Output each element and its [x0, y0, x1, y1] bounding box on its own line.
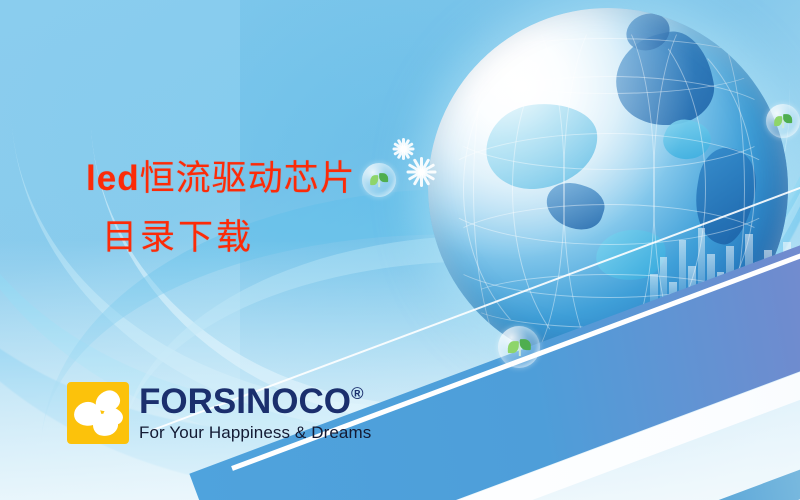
globe-graphic [428, 8, 788, 368]
pinwheel-flower-icon [67, 382, 129, 444]
globe-sphere [428, 8, 788, 368]
sprout-leaf-right [783, 115, 792, 124]
sprout-leaf-right [379, 174, 388, 183]
green-sprout-icon [507, 337, 531, 359]
headline-latin-text: led [86, 159, 140, 198]
registered-trademark-icon: ® [351, 385, 364, 402]
sprout-leaf-right [519, 339, 530, 350]
brand-word: FORSINOCO [139, 384, 351, 419]
headline-line-1: led恒流驱动芯片 [86, 158, 356, 200]
headline-line-2: 目录下载 [102, 218, 356, 259]
green-sprout-icon [773, 113, 793, 131]
sprout-leaf-left [370, 175, 378, 185]
globe-meridian-5 [653, 11, 745, 367]
bubble-top-right [766, 104, 800, 138]
sprout-leaf-left [774, 116, 782, 126]
bubble-center [362, 163, 396, 197]
bubble-lower [498, 326, 540, 368]
brand-name: FORSINOCO® [139, 384, 371, 419]
sprout-leaf-left [508, 341, 518, 354]
globe-meridian-4 [473, 11, 565, 367]
headline-block: led恒流驱动芯片 目录下载 [86, 158, 356, 260]
headline-cjk-text: 恒流驱动芯片 [140, 159, 356, 199]
brand-tagline: For Your Happiness & Dreams [139, 423, 371, 443]
starburst-large-icon [406, 157, 436, 187]
green-sprout-icon [369, 172, 389, 190]
logo-text-block: FORSINOCO® For Your Happiness & Dreams [139, 384, 371, 443]
poster-canvas: led恒流驱动芯片 目录下载 FORSINOCO® For Your Happi… [0, 0, 800, 500]
company-logo[interactable]: FORSINOCO® For Your Happiness & Dreams [67, 382, 371, 444]
